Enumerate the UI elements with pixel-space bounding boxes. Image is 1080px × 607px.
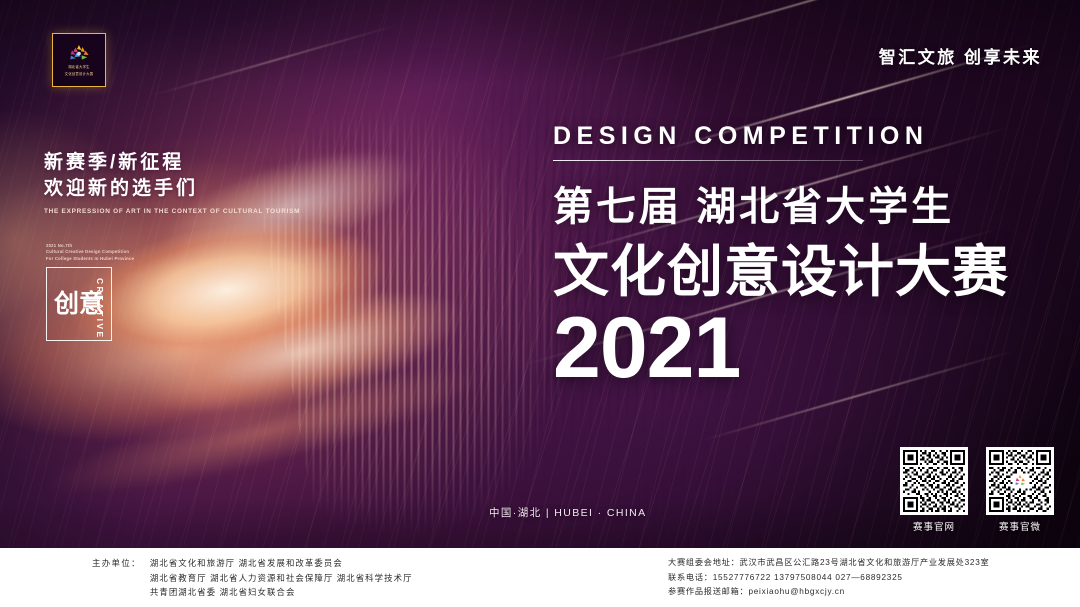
logo-caption-line2: 文化创意设计大赛	[65, 72, 94, 77]
organizer-line: 湖北省文化和旅游厅 湖北省发展和改革委员会	[150, 556, 413, 571]
qr-item-wechat[interactable]: 赛事官微	[986, 447, 1054, 533]
slogan-text: 智汇文旅 创享未来	[879, 43, 1042, 68]
season-block: 新赛季/新征程 欢迎新的选手们 THE EXPRESSION OF ART IN…	[44, 150, 300, 215]
title-english: DESIGN COMPETITION	[553, 122, 1009, 151]
organizer-line: 湖北省教育厅 湖北省人力资源和社会保障厅 湖北省科学技术厅	[150, 571, 413, 586]
contact-email: 参赛作品报送邮箱：peixiaohu@hbgxcjy.cn	[668, 585, 989, 600]
season-line-1: 新赛季/新征程	[44, 150, 300, 176]
contact-address: 大赛组委会地址：武汉市武昌区公汇路23号湖北省文化和旅游厅产业发展处323室	[668, 556, 989, 571]
qr-code-wechat-image[interactable]	[986, 447, 1054, 515]
footer-organizers: 主办单位： 湖北省文化和旅游厅 湖北省发展和改革委员会 湖北省教育厅 湖北省人力…	[92, 556, 413, 600]
season-line-2: 欢迎新的选手们	[44, 176, 300, 202]
title-year: 2021	[553, 300, 1009, 396]
contact-phone: 联系电话：15527776722 13797508044 027—6889232…	[668, 571, 989, 586]
logo-mark-icon	[1013, 474, 1028, 489]
competition-logo-badge[interactable]: 湖北省大学生 文化创意设计大赛	[52, 33, 106, 87]
organizer-list: 湖北省文化和旅游厅 湖北省发展和改革委员会 湖北省教育厅 湖北省人力资源和社会保…	[150, 556, 413, 600]
qr-item-website[interactable]: 赛事官网	[900, 447, 968, 533]
creative-seal-block: 2021 No.7th Cultural Creative Design Com…	[46, 243, 134, 341]
title-divider-rule	[553, 160, 863, 161]
qr-code-block: 赛事官网	[900, 447, 1054, 533]
location-text: 中国·湖北 | HUBEI · CHINA	[489, 505, 647, 520]
footer-contact: 大赛组委会地址：武汉市武昌区公汇路23号湖北省文化和旅游厅产业发展处323室 联…	[668, 556, 989, 600]
footer-bar: 主办单位： 湖北省文化和旅游厅 湖北省发展和改革委员会 湖北省教育厅 湖北省人力…	[0, 548, 1080, 607]
qr-caption-wechat: 赛事官微	[999, 519, 1041, 533]
qr-matrix-icon	[903, 450, 965, 512]
qr-caption-website: 赛事官网	[913, 519, 955, 533]
logo-caption-line1: 湖北省大学生	[68, 65, 90, 70]
organizer-label: 主办单位：	[92, 556, 141, 600]
qr-code-website-image[interactable]	[900, 447, 968, 515]
seal-frame: 创意 CREATIVE	[46, 267, 112, 341]
poster-canvas: 湖北省大学生 文化创意设计大赛 智汇文旅 创享未来 新赛季/新征程 欢迎新的选手…	[0, 0, 1080, 607]
seal-vertical-text: CREATIVE	[95, 278, 105, 340]
qr-center-logo	[1013, 474, 1028, 489]
title-chinese-line-2: 文化创意设计大赛	[553, 238, 1009, 306]
main-title-block: DESIGN COMPETITION 第七届 湖北省大学生 文化创意设计大赛 2…	[553, 122, 1009, 396]
organizer-line: 共青团湖北省委 湖北省妇女联合会	[150, 585, 413, 600]
season-english-subtitle: THE EXPRESSION OF ART IN THE CONTEXT OF …	[44, 208, 300, 215]
logo-figures-icon	[66, 43, 92, 63]
title-chinese-line-1: 第七届 湖北省大学生	[553, 174, 1009, 232]
seal-english-line-2: For College Students In Hubei Province	[46, 256, 134, 262]
